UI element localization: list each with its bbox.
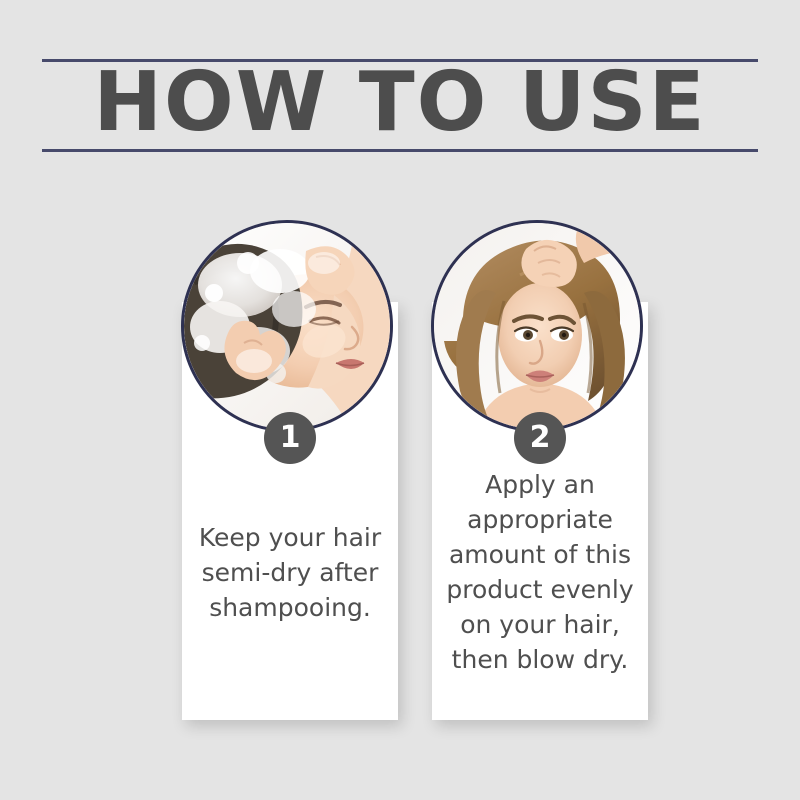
step-2-photo-image [434, 223, 640, 429]
step-2-photo [431, 220, 643, 432]
step-1-photo [181, 220, 393, 432]
step-2-number-badge: 2 [514, 412, 566, 464]
step-1-text: Keep your hair semi-dry after shampooing… [190, 520, 390, 625]
step-1-photo-image [184, 223, 390, 429]
step-card-2: 2 Apply an appropriate amount of this pr… [432, 302, 648, 720]
step-card-1: 1 Keep your hair semi-dry after shampooi… [182, 302, 398, 720]
step-2-text: Apply an appropriate amount of this prod… [440, 467, 640, 677]
steps-container: 1 Keep your hair semi-dry after shampooi… [0, 0, 800, 800]
step-1-number-badge: 1 [264, 412, 316, 464]
